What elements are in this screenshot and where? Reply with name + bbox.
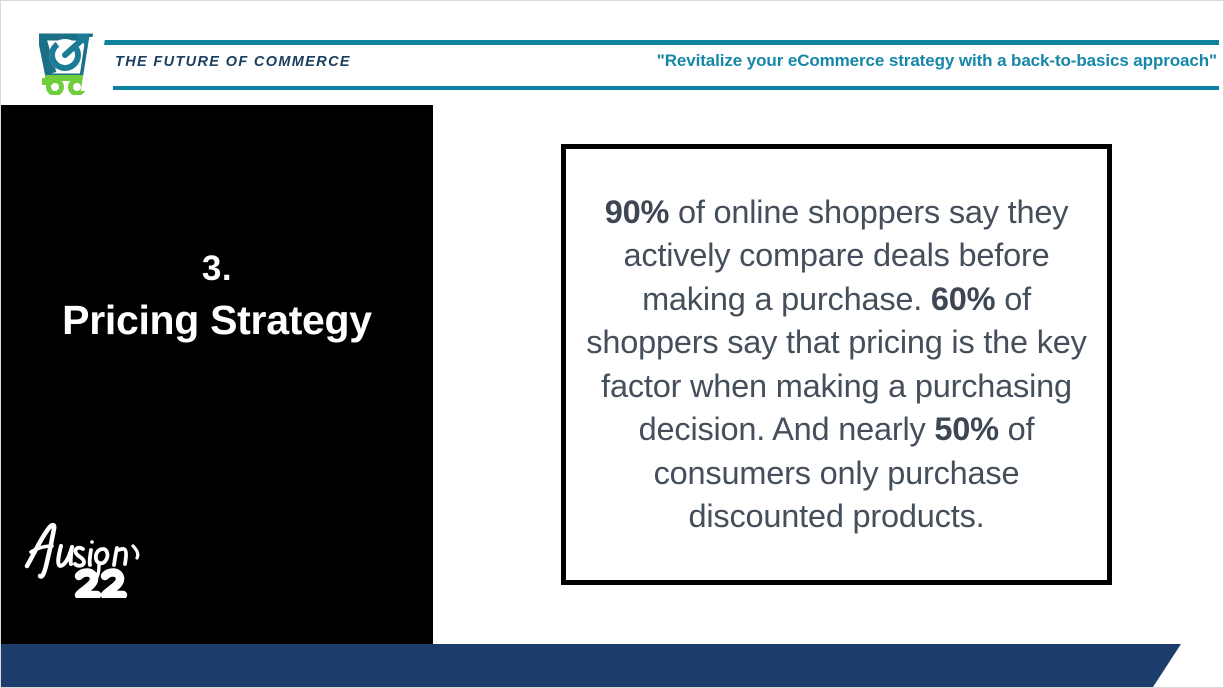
presentation-slide: THE FUTURE OF COMMERCE "Revitalize your … bbox=[0, 0, 1224, 688]
statistic-value: 50% bbox=[934, 411, 998, 447]
statistic-callout-box: 90% of online shoppers say they actively… bbox=[561, 144, 1112, 585]
statistic-value: 90% bbox=[605, 194, 669, 230]
statistic-value: 60% bbox=[931, 281, 995, 317]
section-heading: Pricing Strategy bbox=[1, 293, 433, 348]
section-panel: 3. Pricing Strategy bbox=[1, 105, 433, 646]
header-tagline: THE FUTURE OF COMMERCE bbox=[115, 54, 351, 70]
section-title: 3. Pricing Strategy bbox=[1, 245, 433, 348]
footer-links[interactable]: ecommerce-africa.com | wearevuka.com bbox=[1, 1, 1224, 44]
header-rule-bottom bbox=[113, 86, 1219, 90]
statistic-text: 90% of online shoppers say they actively… bbox=[566, 191, 1107, 539]
fusion-22-brand-mark bbox=[21, 518, 151, 598]
section-number: 3. bbox=[1, 245, 433, 293]
footer-bar bbox=[1, 644, 1181, 687]
header-quote: "Revitalize your eCommerce strategy with… bbox=[657, 51, 1217, 71]
